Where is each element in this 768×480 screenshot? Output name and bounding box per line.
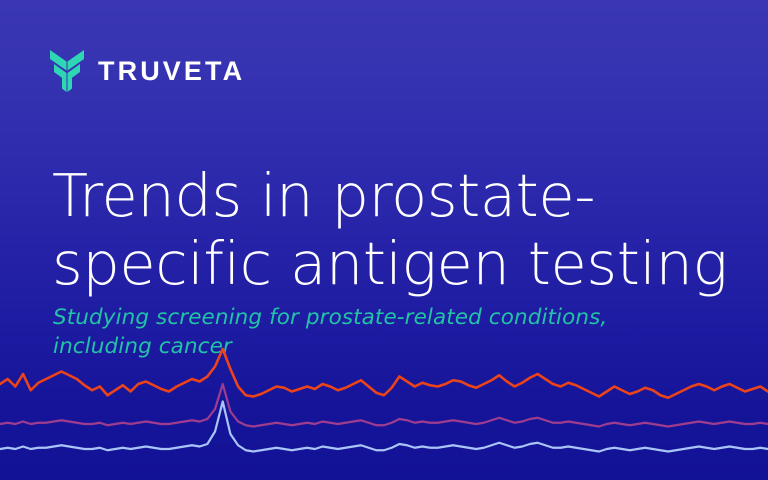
chart-series-group	[0, 349, 768, 452]
trend-line-chart	[0, 345, 768, 480]
chart-line-psa-test-rate-high	[0, 349, 768, 398]
subtitle-line-1: Studying screening for prostate-related …	[53, 303, 693, 332]
hero-banner: TRUVETA Trends in prostate- specific ant…	[0, 0, 768, 480]
headline-line-2: specific antigen testing	[52, 230, 732, 298]
page-title: Trends in prostate- specific antigen tes…	[52, 162, 732, 298]
brand-logo[interactable]: TRUVETA	[50, 50, 245, 92]
headline-line-1: Trends in prostate-	[52, 162, 732, 230]
brand-wordmark: TRUVETA	[98, 58, 245, 85]
chart-canvas	[0, 345, 768, 480]
truveta-chevron-leaf-icon	[50, 50, 84, 92]
chart-line-psa-test-rate-low	[0, 402, 768, 452]
